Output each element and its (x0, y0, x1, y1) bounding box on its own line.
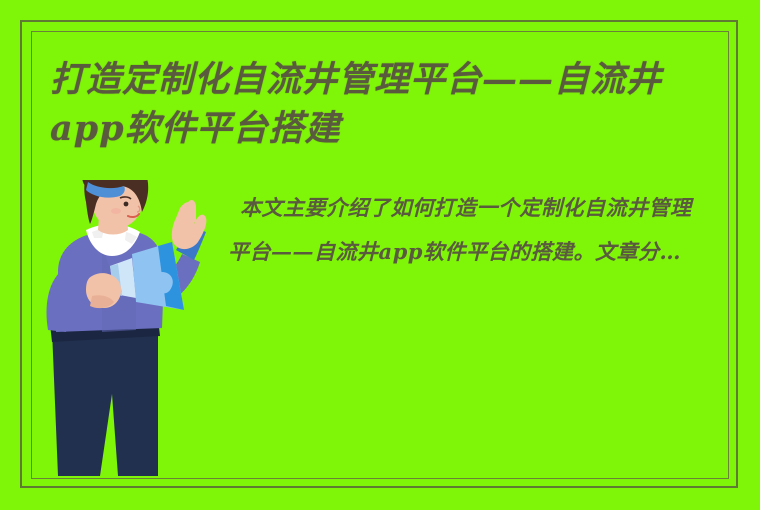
article-excerpt: 本文主要介绍了如何打造一个定制化自流井管理平台——自流井app软件平台的搭建。文… (228, 186, 708, 274)
page-title: 打造定制化自流井管理平台——自流井app软件平台搭建 (50, 55, 718, 153)
woman-with-megaphone-illustration (40, 180, 220, 480)
article-card: 打造定制化自流井管理平台——自流井app软件平台搭建 (0, 0, 760, 510)
